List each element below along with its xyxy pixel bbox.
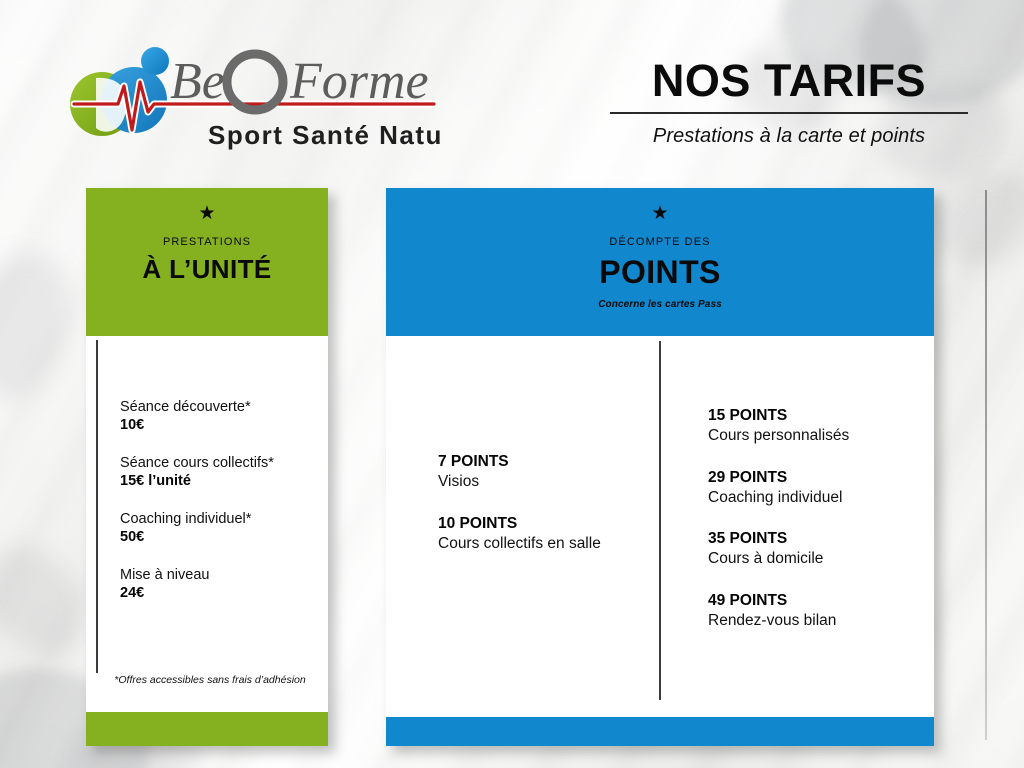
card-decompte-points: ★ DÉCOMPTE DES POINTS Concerne les carte… — [386, 188, 934, 746]
svg-text:Sport Santé Nature: Sport Santé Nature — [208, 120, 442, 150]
list-item: Séance cours collectifs* 15€ l’unité — [120, 454, 314, 491]
item-label: Cours collectifs en salle — [438, 534, 633, 553]
card-content: ★ DÉCOMPTE DES POINTS Concerne les carte… — [386, 188, 934, 746]
item-price: 10€ — [120, 416, 314, 435]
list-item: 15 POINTS Cours personnalisés — [708, 406, 918, 446]
star-icon: ★ — [386, 204, 934, 223]
list-item: 7 POINTS Visios — [438, 452, 633, 492]
title-divider — [610, 112, 968, 114]
item-price: 15€ l’unité — [120, 472, 314, 491]
card-title-unite: À L’UNITÉ — [86, 254, 328, 285]
card-vertical-divider — [659, 341, 661, 700]
item-points: 35 POINTS — [708, 529, 918, 549]
item-label: Rendez-vous bilan — [708, 611, 918, 630]
page-subtitle: Prestations à la carte et points — [604, 125, 974, 148]
list-item: Séance découverte* 10€ — [120, 398, 314, 435]
item-name: Mise à niveau — [120, 566, 314, 584]
card-vertical-divider — [96, 340, 98, 673]
card-title-points: POINTS — [386, 254, 934, 291]
item-points: 29 POINTS — [708, 468, 918, 488]
item-name: Coaching individuel* — [120, 510, 314, 528]
list-item: 49 POINTS Rendez-vous bilan — [708, 591, 918, 631]
card-kicker-points: DÉCOMPTE DES — [386, 236, 934, 248]
list-item: Mise à niveau 24€ — [120, 566, 314, 603]
list-item: 35 POINTS Cours à domicile — [708, 529, 918, 569]
item-name: Séance découverte* — [120, 398, 314, 416]
item-label: Coaching individuel — [708, 488, 918, 507]
item-name: Séance cours collectifs* — [120, 454, 314, 472]
item-label: Cours à domicile — [708, 549, 918, 568]
page-header: Be Forme Sport Santé Nature NOS TARIFS P… — [0, 0, 1024, 180]
item-price: 50€ — [120, 528, 314, 547]
card-content: ★ PRESTATIONS À L’UNITÉ Séance découvert… — [86, 188, 328, 746]
svg-text:Forme: Forme — [289, 53, 429, 110]
item-points: 10 POINTS — [438, 514, 633, 534]
title-block: NOS TARIFS Prestations à la carte et poi… — [604, 58, 974, 148]
card-header-points: ★ DÉCOMPTE DES POINTS Concerne les carte… — [386, 188, 934, 336]
svg-text:Be: Be — [170, 53, 225, 110]
item-label: Visios — [438, 472, 633, 491]
unite-footnote: *Offres accessibles sans frais d’adhésio… — [106, 673, 314, 688]
points-column-left: 7 POINTS Visios 10 POINTS Cours collecti… — [438, 452, 633, 553]
item-points: 15 POINTS — [708, 406, 918, 426]
item-points: 7 POINTS — [438, 452, 633, 472]
right-vertical-rule — [985, 190, 987, 740]
item-price: 24€ — [120, 584, 314, 603]
unite-price-list: Séance découverte* 10€ Séance cours coll… — [120, 398, 314, 603]
page-title: NOS TARIFS — [604, 58, 974, 103]
list-item: 29 POINTS Coaching individuel — [708, 468, 918, 508]
card-prestations-unite: ★ PRESTATIONS À L’UNITÉ Séance découvert… — [86, 188, 328, 746]
item-points: 49 POINTS — [708, 591, 918, 611]
card-kicker-unite: PRESTATIONS — [86, 236, 328, 248]
brand-logo: Be Forme Sport Santé Nature — [62, 42, 442, 157]
star-icon: ★ — [86, 204, 328, 223]
card-footer-bar-points — [386, 717, 934, 746]
points-column-right: 15 POINTS Cours personnalisés 29 POINTS … — [708, 406, 918, 630]
card-note-points: Concerne les cartes Pass — [386, 299, 934, 310]
card-footer-bar-unite — [86, 712, 328, 746]
card-header-unite: ★ PRESTATIONS À L’UNITÉ — [86, 188, 328, 336]
item-label: Cours personnalisés — [708, 426, 918, 445]
list-item: 10 POINTS Cours collectifs en salle — [438, 514, 633, 554]
list-item: Coaching individuel* 50€ — [120, 510, 314, 547]
